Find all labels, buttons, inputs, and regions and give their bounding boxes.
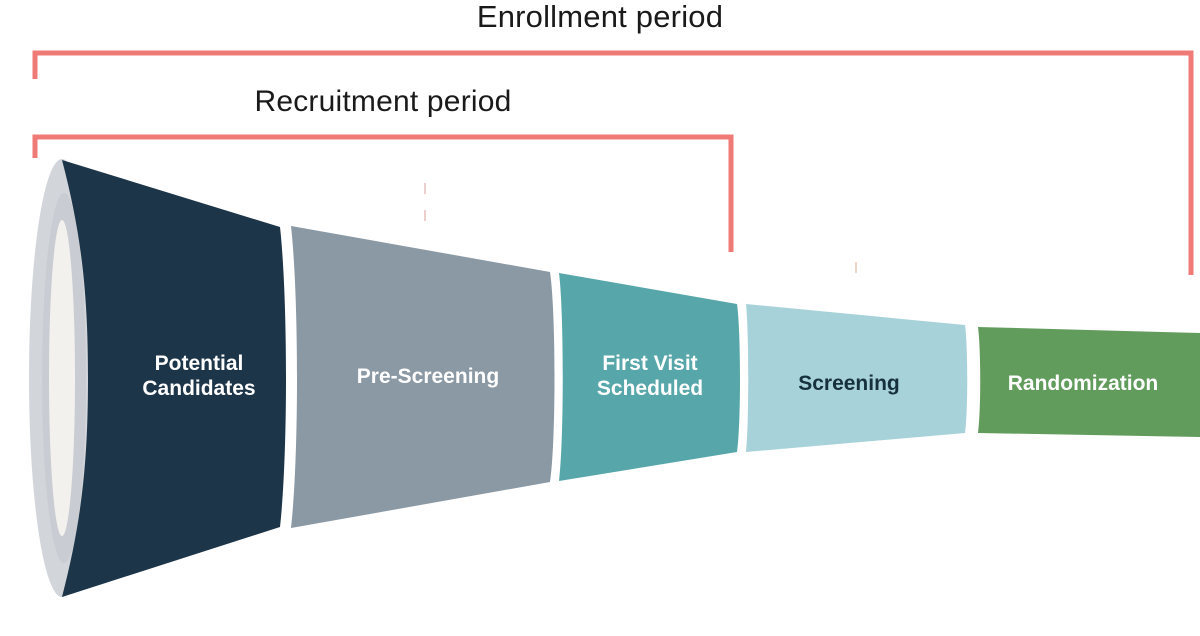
funnel-mouth-inner-opening bbox=[49, 220, 75, 536]
funnel-segment-first-visit-scheduled[interactable] bbox=[559, 273, 740, 481]
funnel-segment-pre-screening[interactable] bbox=[291, 226, 555, 528]
enrollment-period-label: Enrollment period bbox=[0, 0, 1200, 34]
funnel-segment-potential-candidates[interactable] bbox=[62, 160, 286, 597]
funnel-segment-screening[interactable] bbox=[746, 304, 967, 452]
recruitment-period-label: Recruitment period bbox=[33, 85, 733, 118]
faint-tick-marks bbox=[425, 183, 856, 273]
funnel-diagram-canvas: Enrollment period Recruitment period Pot… bbox=[0, 0, 1200, 636]
funnel-segment-randomization[interactable] bbox=[978, 327, 1200, 437]
